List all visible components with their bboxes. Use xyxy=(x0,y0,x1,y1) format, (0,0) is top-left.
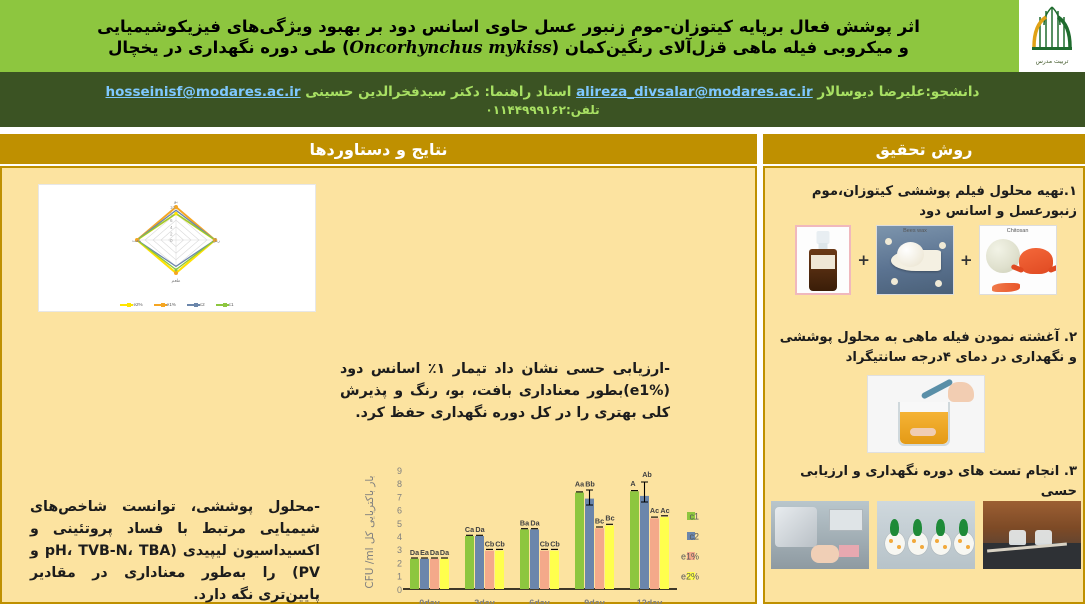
radar-legend-label-e1: e1% xyxy=(167,302,176,307)
garnish-leaf-shape xyxy=(890,519,899,536)
wax-pellet xyxy=(935,280,942,287)
wax-pellet xyxy=(939,242,946,249)
svg-text:4: 4 xyxy=(170,225,173,230)
svg-text:e1%: e1% xyxy=(681,552,699,562)
poster-title-line-2: و میکروبی فیله ماهی قزل‌آلای رنگین‌کمان … xyxy=(108,37,909,58)
svg-text:5: 5 xyxy=(397,519,402,529)
sample-dot xyxy=(912,539,916,543)
bar-legend: c1 c2 e1% e2% xyxy=(681,512,699,582)
wax-pellet xyxy=(885,238,892,245)
glass-jar-shape xyxy=(1009,530,1026,545)
authors-row: دانشجو:علیرضا دیوسالار alireza_divsalar@… xyxy=(106,84,980,101)
bar-group-12day: A Ab Ac Ac xyxy=(630,470,670,589)
svg-text:Aa: Aa xyxy=(575,480,585,489)
svg-text:Da: Da xyxy=(440,548,450,557)
legend-marker-c2 xyxy=(194,303,198,307)
radar-legend: c1 c2 e1% e2% xyxy=(39,297,315,312)
chitosan-photo-caption: Chitosan xyxy=(980,228,1056,234)
svg-text:Bc: Bc xyxy=(595,517,604,526)
svg-text:Cb: Cb xyxy=(550,540,560,549)
finding-chemical-text: -محلول پوششی، توانست شاخص‌های شیمیایی مر… xyxy=(30,496,320,604)
sample-dot xyxy=(966,545,970,549)
svg-text:e2%: e2% xyxy=(681,572,699,582)
radar-legend-item-c2: c2 xyxy=(187,302,205,307)
svg-text:Cb: Cb xyxy=(495,540,505,549)
wax-pellet xyxy=(891,278,898,285)
svg-text:8: 8 xyxy=(397,479,402,489)
svg-text:7: 7 xyxy=(397,492,402,502)
svg-text:Ba: Ba xyxy=(520,518,530,527)
beeswax-photo-caption: Bees wax xyxy=(877,228,953,234)
legend-marker-e2 xyxy=(127,303,131,307)
svg-text:تربیت مدرس: تربیت مدرس xyxy=(1036,58,1069,65)
student-email-link[interactable]: alireza_divsalar@modares.ac.ir xyxy=(576,84,813,101)
hand-shape xyxy=(811,545,839,563)
method-step-1-text: ۱.تهیه محلول فیلم پوششی کیتوزان،موم زنبو… xyxy=(775,182,1077,222)
svg-text:3day: 3day xyxy=(474,598,495,604)
sensory-plates-photo xyxy=(877,501,975,569)
radar-legend-label-e2: e2% xyxy=(133,302,142,307)
svg-text:6: 6 xyxy=(170,218,173,223)
method-step-2-text: ۲. آغشته نمودن فیله ماهی به محلول پوششی … xyxy=(775,328,1077,368)
radar-axes xyxy=(137,207,215,273)
legend-marker-e1 xyxy=(161,303,165,307)
university-logo-icon: تربیت مدرس xyxy=(1022,1,1082,71)
svg-text:طعم: طعم xyxy=(172,279,181,284)
svg-text:c2: c2 xyxy=(689,532,699,542)
title-line2-part-b: ) طی دوره نگهداری در یخچال xyxy=(108,38,349,57)
chitosan-powder-crab-photo: Chitosan xyxy=(979,225,1057,295)
svg-text:بافت: بافت xyxy=(132,239,141,244)
svg-text:Bb: Bb xyxy=(585,480,595,489)
plus-sign-2: + xyxy=(857,251,870,269)
svg-text:3: 3 xyxy=(397,545,402,555)
svg-text:2: 2 xyxy=(170,231,173,236)
radar-chart-sensory: 0 2 4 6 8 10 بو رنگ طعم بافت xyxy=(38,184,316,312)
svg-text:بو: بو xyxy=(173,200,178,205)
poster-title-line-1: اثر پوشش فعال برپایه کیتوزان-موم زنبور ع… xyxy=(97,16,920,37)
student-label: دانشجو:علیرضا دیوسالار xyxy=(817,84,979,100)
sample-dot xyxy=(897,545,901,549)
sample-preparation-photo xyxy=(771,501,869,569)
method-step-2-images xyxy=(773,374,1079,454)
bar-group-6day: Ba Da Cb Cb xyxy=(520,518,560,589)
plus-sign-1: + xyxy=(960,251,973,269)
svg-text:Da: Da xyxy=(475,525,485,534)
bar-group-0day: Da Ea Da Da xyxy=(410,548,450,589)
storage-box-shape xyxy=(829,509,863,531)
svg-text:6: 6 xyxy=(397,506,402,516)
svg-text:Da: Da xyxy=(430,548,440,557)
fish-fillet-dipping-beaker-photo xyxy=(867,375,985,453)
svg-text:Cb: Cb xyxy=(485,540,495,549)
sample-dot xyxy=(943,545,947,549)
method-panel: ۱.تهیه محلول فیلم پوششی کیتوزان،موم زنبو… xyxy=(763,166,1085,604)
radar-legend-label-c1: c1 xyxy=(229,302,234,307)
shrimp-shape xyxy=(992,283,1020,292)
sample-dot xyxy=(889,539,893,543)
svg-text:0: 0 xyxy=(397,585,402,595)
method-step-3-text: ۳. انجام تست های دوره نگهداری و ارزیابی … xyxy=(775,462,1077,502)
svg-text:Cb: Cb xyxy=(540,540,550,549)
sample-dot xyxy=(935,539,939,543)
radar-legend-item-e2: e2% xyxy=(120,302,142,307)
svg-text:9: 9 xyxy=(397,466,402,476)
svg-text:Ca: Ca xyxy=(465,525,475,534)
method-step-3-images xyxy=(771,498,1081,572)
svg-text:10: 10 xyxy=(170,205,176,210)
section-header-results-label: نتایج و دستاوردها xyxy=(309,140,447,159)
svg-text:Da: Da xyxy=(530,518,540,527)
fish-fillet-shape xyxy=(910,428,936,436)
svg-text:0day: 0day xyxy=(419,598,440,604)
species-name: Oncorhynchus mykiss xyxy=(350,38,552,57)
pink-item-shape xyxy=(839,545,859,557)
finding-sensory-text: -ارزیابی حسی نشان داد تیمار ۱٪ اسانس دود… xyxy=(340,358,670,424)
section-header-results: نتایج و دستاوردها xyxy=(0,134,757,164)
svg-text:Ab: Ab xyxy=(642,470,652,479)
svg-text:Ac: Ac xyxy=(650,506,659,515)
garnish-leaf-shape xyxy=(913,519,922,536)
poster-title-band: اثر پوشش فعال برپایه کیتوزان-موم زنبور ع… xyxy=(0,0,1019,72)
hand-shape xyxy=(948,382,974,402)
radar-chart-svg: 0 2 4 6 8 10 بو رنگ طعم بافت xyxy=(37,185,315,297)
radar-legend-item-e1: e1% xyxy=(154,302,176,307)
crab-shape xyxy=(1019,248,1053,274)
svg-text:0: 0 xyxy=(170,238,173,243)
radar-legend-label-c2: c2 xyxy=(200,302,205,307)
svg-text:4: 4 xyxy=(397,532,402,542)
bar-group-9day: Aa Bb Bc Bc xyxy=(575,480,615,590)
svg-text:1: 1 xyxy=(397,572,402,582)
svg-text:رنگ: رنگ xyxy=(212,238,220,244)
svg-text:c1: c1 xyxy=(689,512,699,522)
lab-bench-photo xyxy=(983,501,1081,569)
garnish-leaf-shape xyxy=(936,519,945,536)
phone-number: تلفن:۰۱۱۴۴۹۹۹۱۶۲ xyxy=(485,103,599,117)
supervisor-label: استاد راهنما: دکتر سیدفخرالدین حسینی xyxy=(305,84,571,100)
poster-root: اثر پوشش فعال برپایه کیتوزان-موم زنبور ع… xyxy=(0,0,1085,604)
method-step-1-images: Chitosan + Bees wax + xyxy=(773,224,1079,296)
svg-text:Ac: Ac xyxy=(660,506,669,515)
beeswax-spoon-photo: Bees wax xyxy=(876,225,954,295)
section-header-method-label: روش تحقیق xyxy=(876,140,973,159)
bar-chart-microbial: 9 8 7 6 5 4 3 2 1 0 بار باکتریایی کل CFU… xyxy=(335,460,735,604)
svg-text:Ea: Ea xyxy=(420,548,430,557)
svg-text:2: 2 xyxy=(397,558,402,568)
bar-x-tick-labels: 0day 3day 6day 9day 12day xyxy=(419,598,662,604)
smoke-essence-bottle-photo xyxy=(795,225,851,295)
bar-group-3day: Ca Da Cb Cb xyxy=(465,525,505,589)
foil-wrap-shape xyxy=(775,507,817,547)
svg-text:Bc: Bc xyxy=(605,514,614,523)
legend-marker-c1 xyxy=(223,303,227,307)
svg-text:9day: 9day xyxy=(584,598,605,604)
authors-band: دانشجو:علیرضا دیوسالار alireza_divsalar@… xyxy=(0,72,1085,127)
svg-text:8: 8 xyxy=(170,212,173,217)
section-header-method: روش تحقیق xyxy=(763,134,1085,164)
sample-dot xyxy=(920,545,924,549)
title-line2-part-a: و میکروبی فیله ماهی قزل‌آلای رنگین‌کمان … xyxy=(552,38,909,57)
svg-text:A: A xyxy=(630,479,635,488)
bar-y-tick-labels: 9 8 7 6 5 4 3 2 1 0 xyxy=(397,466,402,595)
wax-ball-shape xyxy=(897,242,924,267)
svg-text:6day: 6day xyxy=(529,598,550,604)
garnish-leaf-shape xyxy=(959,519,968,536)
results-panel: 0 2 4 6 8 10 بو رنگ طعم بافت xyxy=(0,166,757,604)
glass-jar-shape xyxy=(1035,530,1052,545)
svg-text:12day: 12day xyxy=(637,598,663,604)
supervisor-email-link[interactable]: hosseinisf@modares.ac.ir xyxy=(106,84,301,101)
bar-chart-svg: 9 8 7 6 5 4 3 2 1 0 بار باکتریایی کل CFU… xyxy=(335,460,735,604)
svg-text:Da: Da xyxy=(410,548,420,557)
radar-legend-item-c1: c1 xyxy=(216,302,234,307)
university-logo: تربیت مدرس xyxy=(1019,0,1085,72)
sample-dot xyxy=(958,539,962,543)
bottle-label-shape xyxy=(811,255,835,269)
bar-y-axis-title: بار باکتریایی کل CFU /ml xyxy=(364,475,376,588)
